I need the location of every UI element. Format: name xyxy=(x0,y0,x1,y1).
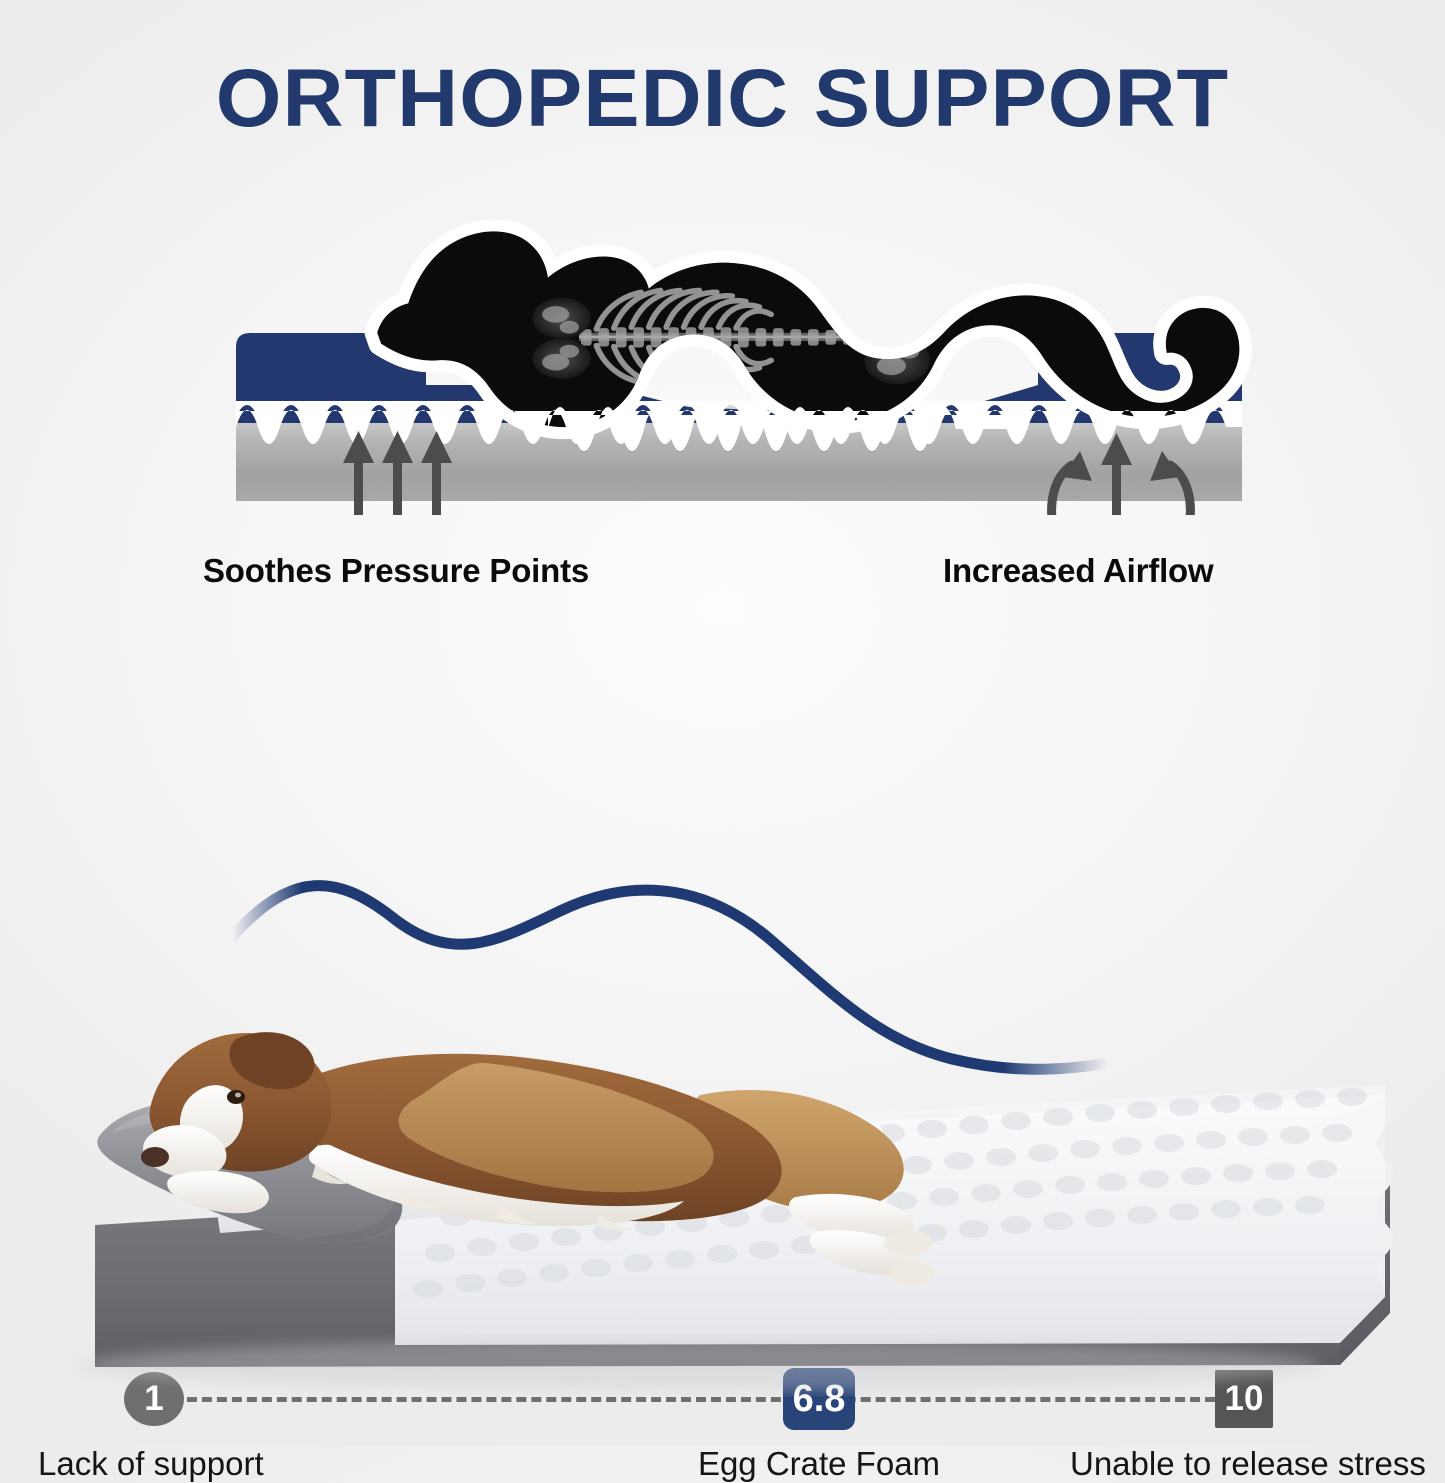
foam-cross-section-diagram xyxy=(218,215,1260,515)
product-photo-scene xyxy=(0,845,1445,1445)
dog-head xyxy=(141,1032,332,1178)
infographic-page: ORTHOPEDIC SUPPORT xyxy=(0,0,1445,1445)
page-title: ORTHOPEDIC SUPPORT xyxy=(0,52,1445,146)
label-soothes-pressure-points: Soothes Pressure Points xyxy=(203,552,589,590)
bed-contact-shadow xyxy=(80,1339,1320,1391)
caption-unable-to-release-stress: Unable to release stress xyxy=(1070,1445,1445,1483)
dog-silhouette-xray xyxy=(377,231,1239,427)
caption-lack-of-support: Lack of support xyxy=(38,1445,268,1483)
accent-wave-line xyxy=(232,886,1108,1070)
hardness-scale: Too soft 1 Lack of support Moderate hard… xyxy=(0,655,1445,835)
label-increased-airflow: Increased Airflow xyxy=(943,552,1213,590)
pressure-arrows xyxy=(343,431,452,515)
caption-egg-crate-foam: Egg Crate Foam xyxy=(669,1445,969,1483)
